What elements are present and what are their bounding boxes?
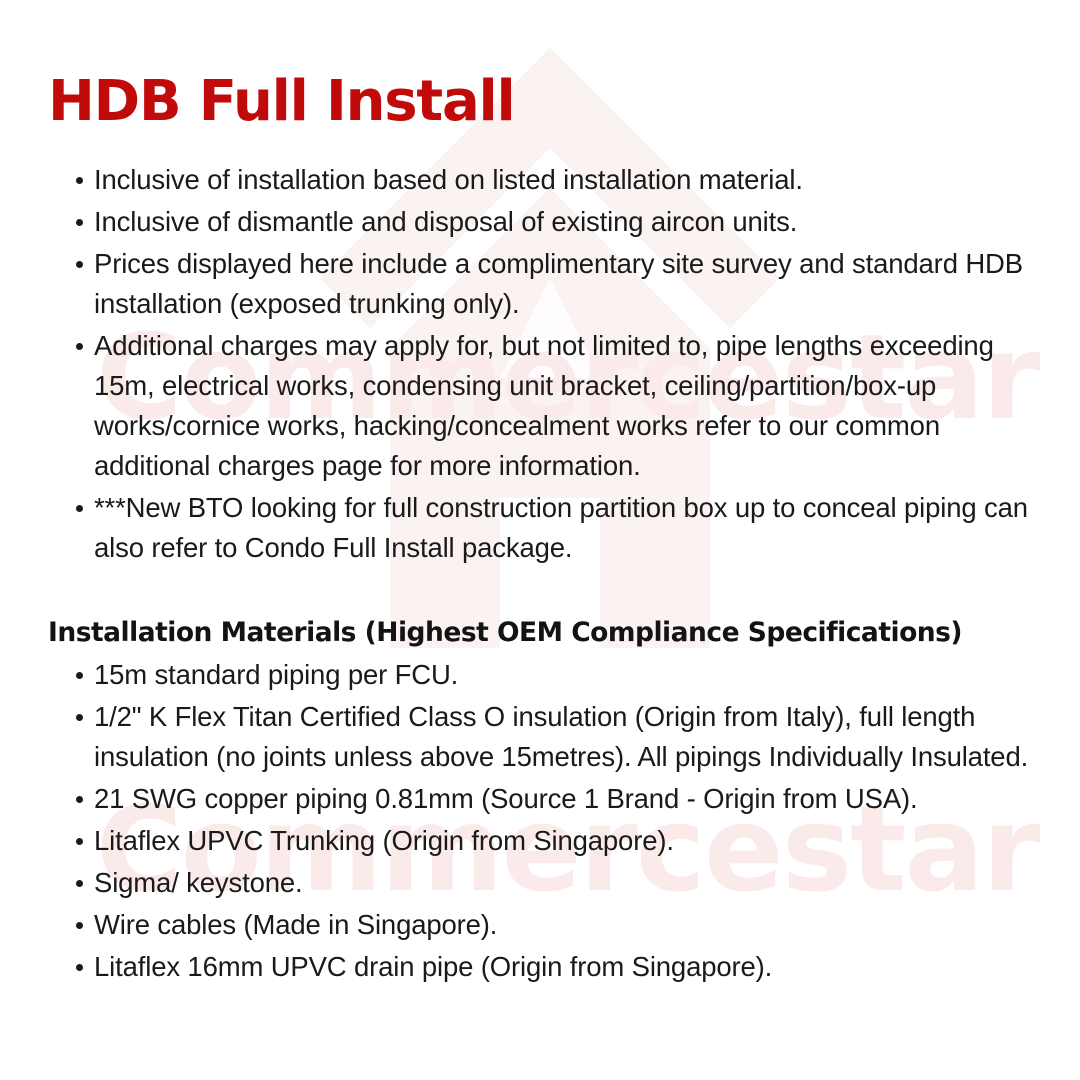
intro-section: Inclusive of installation based on liste… bbox=[0, 160, 1080, 570]
list-item: Additional charges may apply for, but no… bbox=[48, 326, 1040, 486]
intro-bullet-list: Inclusive of installation based on liste… bbox=[48, 160, 1040, 568]
materials-bullet-list: 15m standard piping per FCU. 1/2" K Flex… bbox=[48, 655, 1048, 989]
list-item: Inclusive of dismantle and disposal of e… bbox=[48, 202, 1040, 242]
list-item: Litaflex 16mm UPVC drain pipe (Origin fr… bbox=[48, 947, 1048, 987]
list-item: 15m standard piping per FCU. bbox=[48, 655, 1048, 695]
list-item: Inclusive of installation based on liste… bbox=[48, 160, 1040, 200]
list-item: Litaflex UPVC Trunking (Origin from Sing… bbox=[48, 821, 1048, 861]
list-item: 1/2" K Flex Titan Certified Class O insu… bbox=[48, 697, 1048, 777]
page-title: HDB Full Install bbox=[48, 70, 515, 134]
list-item: Sigma/ keystone. bbox=[48, 863, 1048, 903]
materials-section-heading: Installation Materials (Highest OEM Comp… bbox=[48, 617, 962, 649]
list-item: ***New BTO looking for full construction… bbox=[48, 488, 1040, 568]
list-item: 21 SWG copper piping 0.81mm (Source 1 Br… bbox=[48, 779, 1048, 819]
list-item: Wire cables (Made in Singapore). bbox=[48, 905, 1048, 945]
list-item: Prices displayed here include a complime… bbox=[48, 244, 1040, 324]
